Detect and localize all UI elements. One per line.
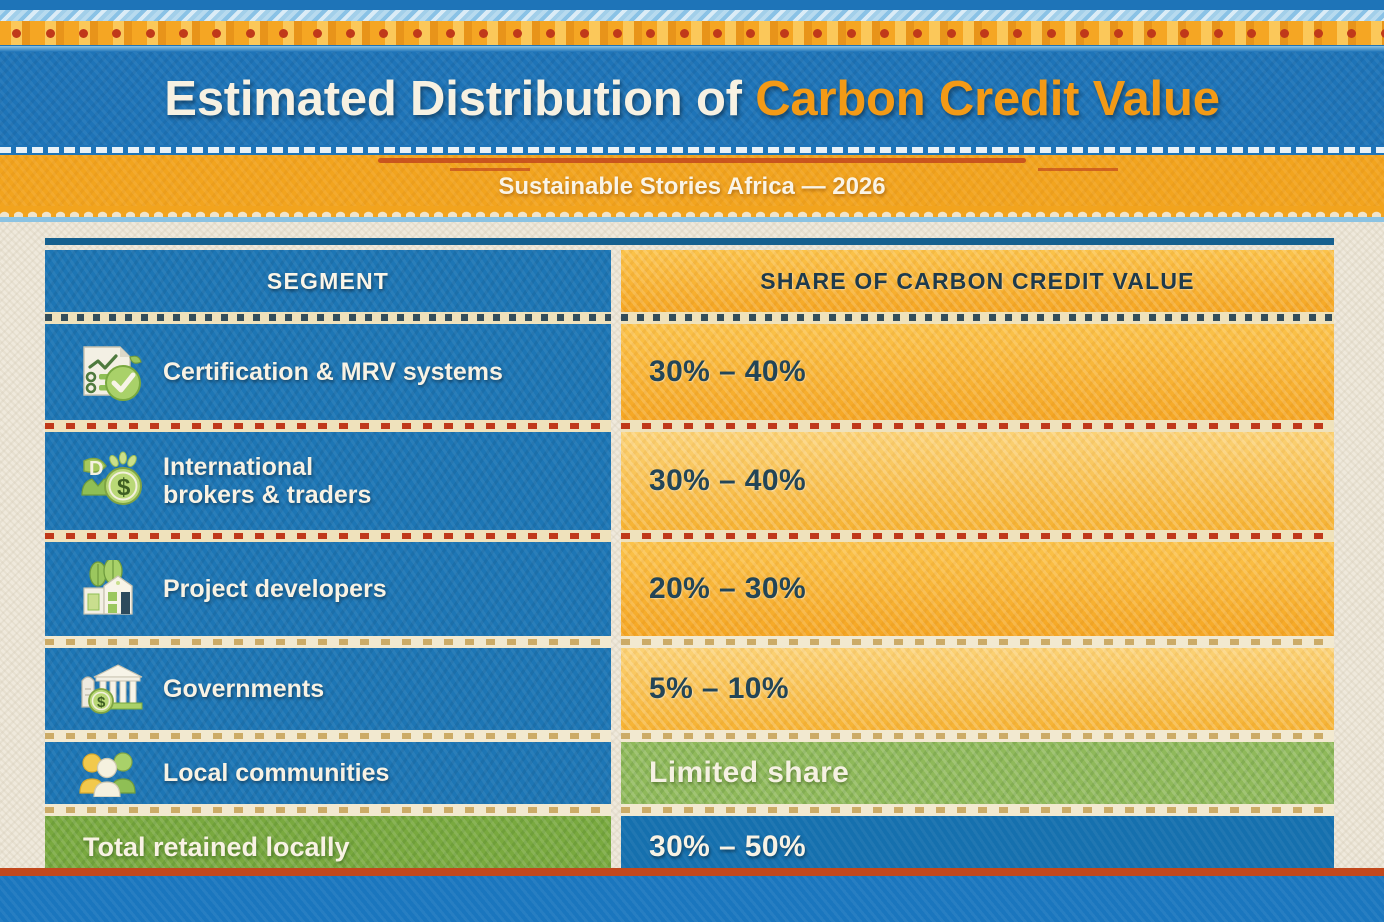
certificate-document-icon [75, 341, 147, 403]
segment-label-line2: brokers & traders [163, 481, 371, 509]
table-row[interactable]: Project developers 20% – 30% [45, 542, 1334, 636]
table-row[interactable]: Local communities Limited share [45, 742, 1334, 804]
row-separator [45, 420, 1334, 432]
government-bank-icon: $ [75, 658, 147, 720]
table-cell-segment: Certification & MRV systems [45, 324, 611, 420]
row-separator [45, 730, 1334, 742]
table-cell-segment: Project developers [45, 542, 611, 636]
table-header-share-label: SHARE OF CARBON CREDIT VALUE [760, 268, 1194, 295]
page-title-part2: Carbon Credit Value [755, 72, 1220, 126]
title-dashed-divider [0, 145, 1384, 155]
svg-text:D: D [89, 458, 103, 480]
share-value: Limited share [649, 756, 849, 790]
share-value: 20% – 30% [649, 572, 806, 606]
segment-label: Certification & MRV systems [163, 358, 503, 386]
segment-label: Local communities [163, 759, 389, 787]
row-separator [45, 312, 1334, 324]
share-value: 30% – 40% [649, 464, 806, 498]
share-value: 30% – 40% [649, 355, 806, 389]
table-header-share: SHARE OF CARBON CREDIT VALUE [621, 250, 1334, 312]
total-label: Total retained locally [45, 832, 350, 863]
page-title: Estimated Distribution of Carbon Credit … [164, 71, 1220, 127]
table-cell-share: 30% – 40% [621, 324, 1334, 420]
table-cell-segment: $ Governments [45, 648, 611, 730]
table-top-rule [45, 238, 1334, 245]
table-row[interactable]: $ Governments 5% – 10% [45, 648, 1334, 730]
share-value: 5% – 10% [649, 672, 789, 706]
subtitle-accent-tick-right [1038, 168, 1118, 171]
bottom-band [0, 876, 1384, 922]
table-cell-share: 5% – 10% [621, 648, 1334, 730]
subtitle-scallop-border [0, 206, 1384, 222]
page-title-part1: Estimated Distribution of [164, 72, 755, 126]
svg-text:$: $ [97, 694, 106, 711]
title-bar: Estimated Distribution of Carbon Credit … [0, 52, 1384, 145]
segment-label: Internationalbrokers & traders [163, 453, 371, 509]
bottom-accent-rule [0, 868, 1384, 876]
distribution-table: SEGMENT SHARE OF CARBON CREDIT VALUE [45, 238, 1334, 878]
svg-text:$: $ [117, 474, 131, 501]
page-subtitle: Sustainable Stories Africa — 2026 [498, 173, 885, 201]
segment-label-line1: International [163, 453, 313, 481]
dot-pattern-icon [0, 24, 1384, 42]
top-decorative-border [0, 0, 1384, 52]
subtitle-accent-line [378, 158, 1026, 163]
community-people-icon [75, 742, 147, 804]
broker-moneybag-icon: D $ [75, 450, 147, 512]
row-separator [45, 804, 1334, 816]
table-header-segment-label: SEGMENT [267, 268, 389, 295]
table-cell-segment: D $ Internationalbrokers & traders [45, 432, 611, 530]
green-building-icon [75, 558, 147, 620]
subtitle-accent-tick-left [450, 168, 530, 171]
row-separator [45, 530, 1334, 542]
table-header-segment: SEGMENT [45, 250, 611, 312]
table-row[interactable]: D $ Internationalbrokers & traders [45, 432, 1334, 530]
table-cell-share: 30% – 40% [621, 432, 1334, 530]
subtitle-bar: Sustainable Stories Africa — 2026 [0, 155, 1384, 210]
table-cell-segment: Local communities [45, 742, 611, 804]
segment-label: Project developers [163, 575, 387, 603]
table-row[interactable]: Certification & MRV systems 30% – 40% [45, 324, 1334, 420]
table-header-row: SEGMENT SHARE OF CARBON CREDIT VALUE [45, 250, 1334, 312]
segment-label: Governments [163, 675, 324, 703]
table-cell-share: 20% – 30% [621, 542, 1334, 636]
column-gutter [611, 250, 621, 312]
total-value: 30% – 50% [649, 830, 806, 864]
row-separator [45, 636, 1334, 648]
table-cell-share: Limited share [621, 742, 1334, 804]
